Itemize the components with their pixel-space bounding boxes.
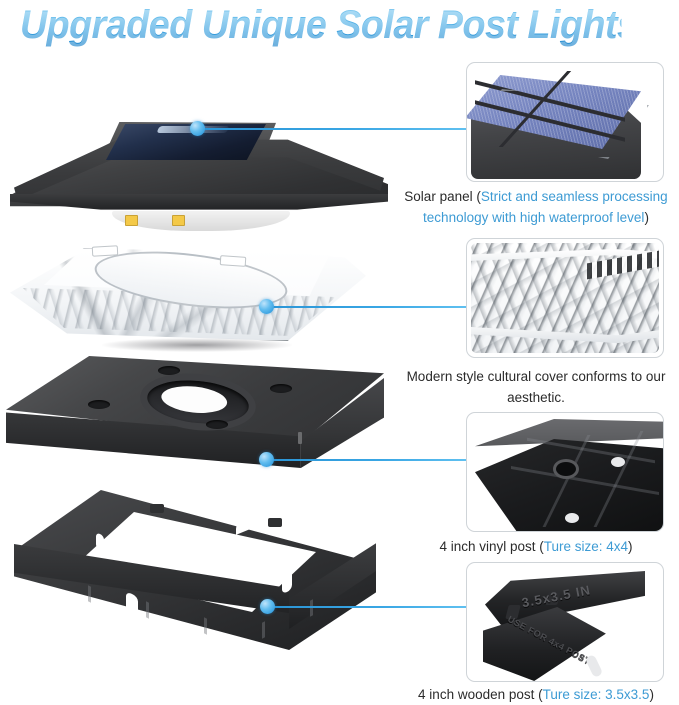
ring-slot <box>96 532 104 551</box>
cover-shadow <box>102 338 292 352</box>
ring-rib <box>310 599 313 616</box>
title-banner: Upgraded Unique Solar Post Lights <box>0 0 679 56</box>
product-crystal-cover <box>10 238 370 350</box>
screw-hole <box>88 400 110 409</box>
callout-line-2 <box>272 306 466 308</box>
photo3-center-grommet <box>553 459 579 479</box>
led-chip <box>172 215 185 226</box>
callout-dot-1 <box>190 121 205 136</box>
cover-tab <box>220 255 247 267</box>
callout-dot-2 <box>259 299 274 314</box>
caption-4-part-a: 4 inch wooden post ( <box>418 687 543 702</box>
photo3-screw-hole <box>611 457 625 467</box>
screw-hole <box>158 366 180 375</box>
caption-3-part-c: ) <box>628 539 633 554</box>
screw-hole <box>206 420 228 429</box>
led-chip <box>125 215 138 226</box>
ring-nub <box>268 518 282 527</box>
caption-3-part-b: Ture size: 4x4 <box>544 539 628 554</box>
callout-line-1 <box>203 128 466 130</box>
product-solar-cap <box>8 98 390 238</box>
caption-cultural-cover: Modern style cultural cover conforms to … <box>398 366 674 408</box>
callout-line-3 <box>272 459 466 461</box>
caption-3-part-a: 4 inch vinyl post ( <box>439 539 543 554</box>
product-base-plate <box>6 356 388 496</box>
ring-rib <box>88 585 91 602</box>
screw-hole <box>270 384 292 393</box>
page-title: Upgraded Unique Solar Post Lights <box>20 2 622 48</box>
detail-photo-crystal-cover <box>466 238 664 358</box>
caption-vinyl-post: 4 inch vinyl post (Ture size: 4x4) <box>398 536 674 557</box>
callout-dot-4 <box>260 599 275 614</box>
caption-4-part-c: ) <box>649 687 654 702</box>
callout-line-4 <box>273 606 466 608</box>
photo3-screw-hole <box>565 513 579 523</box>
caption-1-part-c: technology with high waterproof level <box>423 210 644 225</box>
detail-photo-base-underside <box>466 412 664 532</box>
caption-1-part-b: Strict and seamless processing <box>481 189 668 204</box>
detail-photo-adapter-ring: 3.5x3.5 IN USE FOR 4x4 POST <box>466 562 664 682</box>
caption-1-part-d: ) <box>644 210 649 225</box>
caption-1-part-a: Solar panel ( <box>404 189 481 204</box>
detail-photo-solar-panel <box>466 62 664 182</box>
cover-tab <box>92 245 118 256</box>
power-switch[interactable] <box>298 432 302 444</box>
caption-2-line-1: Modern style cultural cover conforms to <box>407 369 643 384</box>
callout-dot-3 <box>259 452 274 467</box>
caption-4-part-b: Ture size: 3.5x3.5 <box>543 687 650 702</box>
led-diffuser <box>112 211 290 231</box>
product-adapter-ring <box>14 490 382 666</box>
caption-solar-panel: Solar panel (Strict and seamless process… <box>398 186 674 228</box>
ring-rib <box>262 621 265 638</box>
ring-nub <box>150 504 164 513</box>
caption-wooden-post: 4 inch wooden post (Ture size: 3.5x3.5) <box>398 684 674 705</box>
ring-rib <box>146 601 149 618</box>
ring-rib <box>204 617 207 634</box>
infographic-page: Upgraded Unique Solar Post Lights <box>0 0 679 704</box>
